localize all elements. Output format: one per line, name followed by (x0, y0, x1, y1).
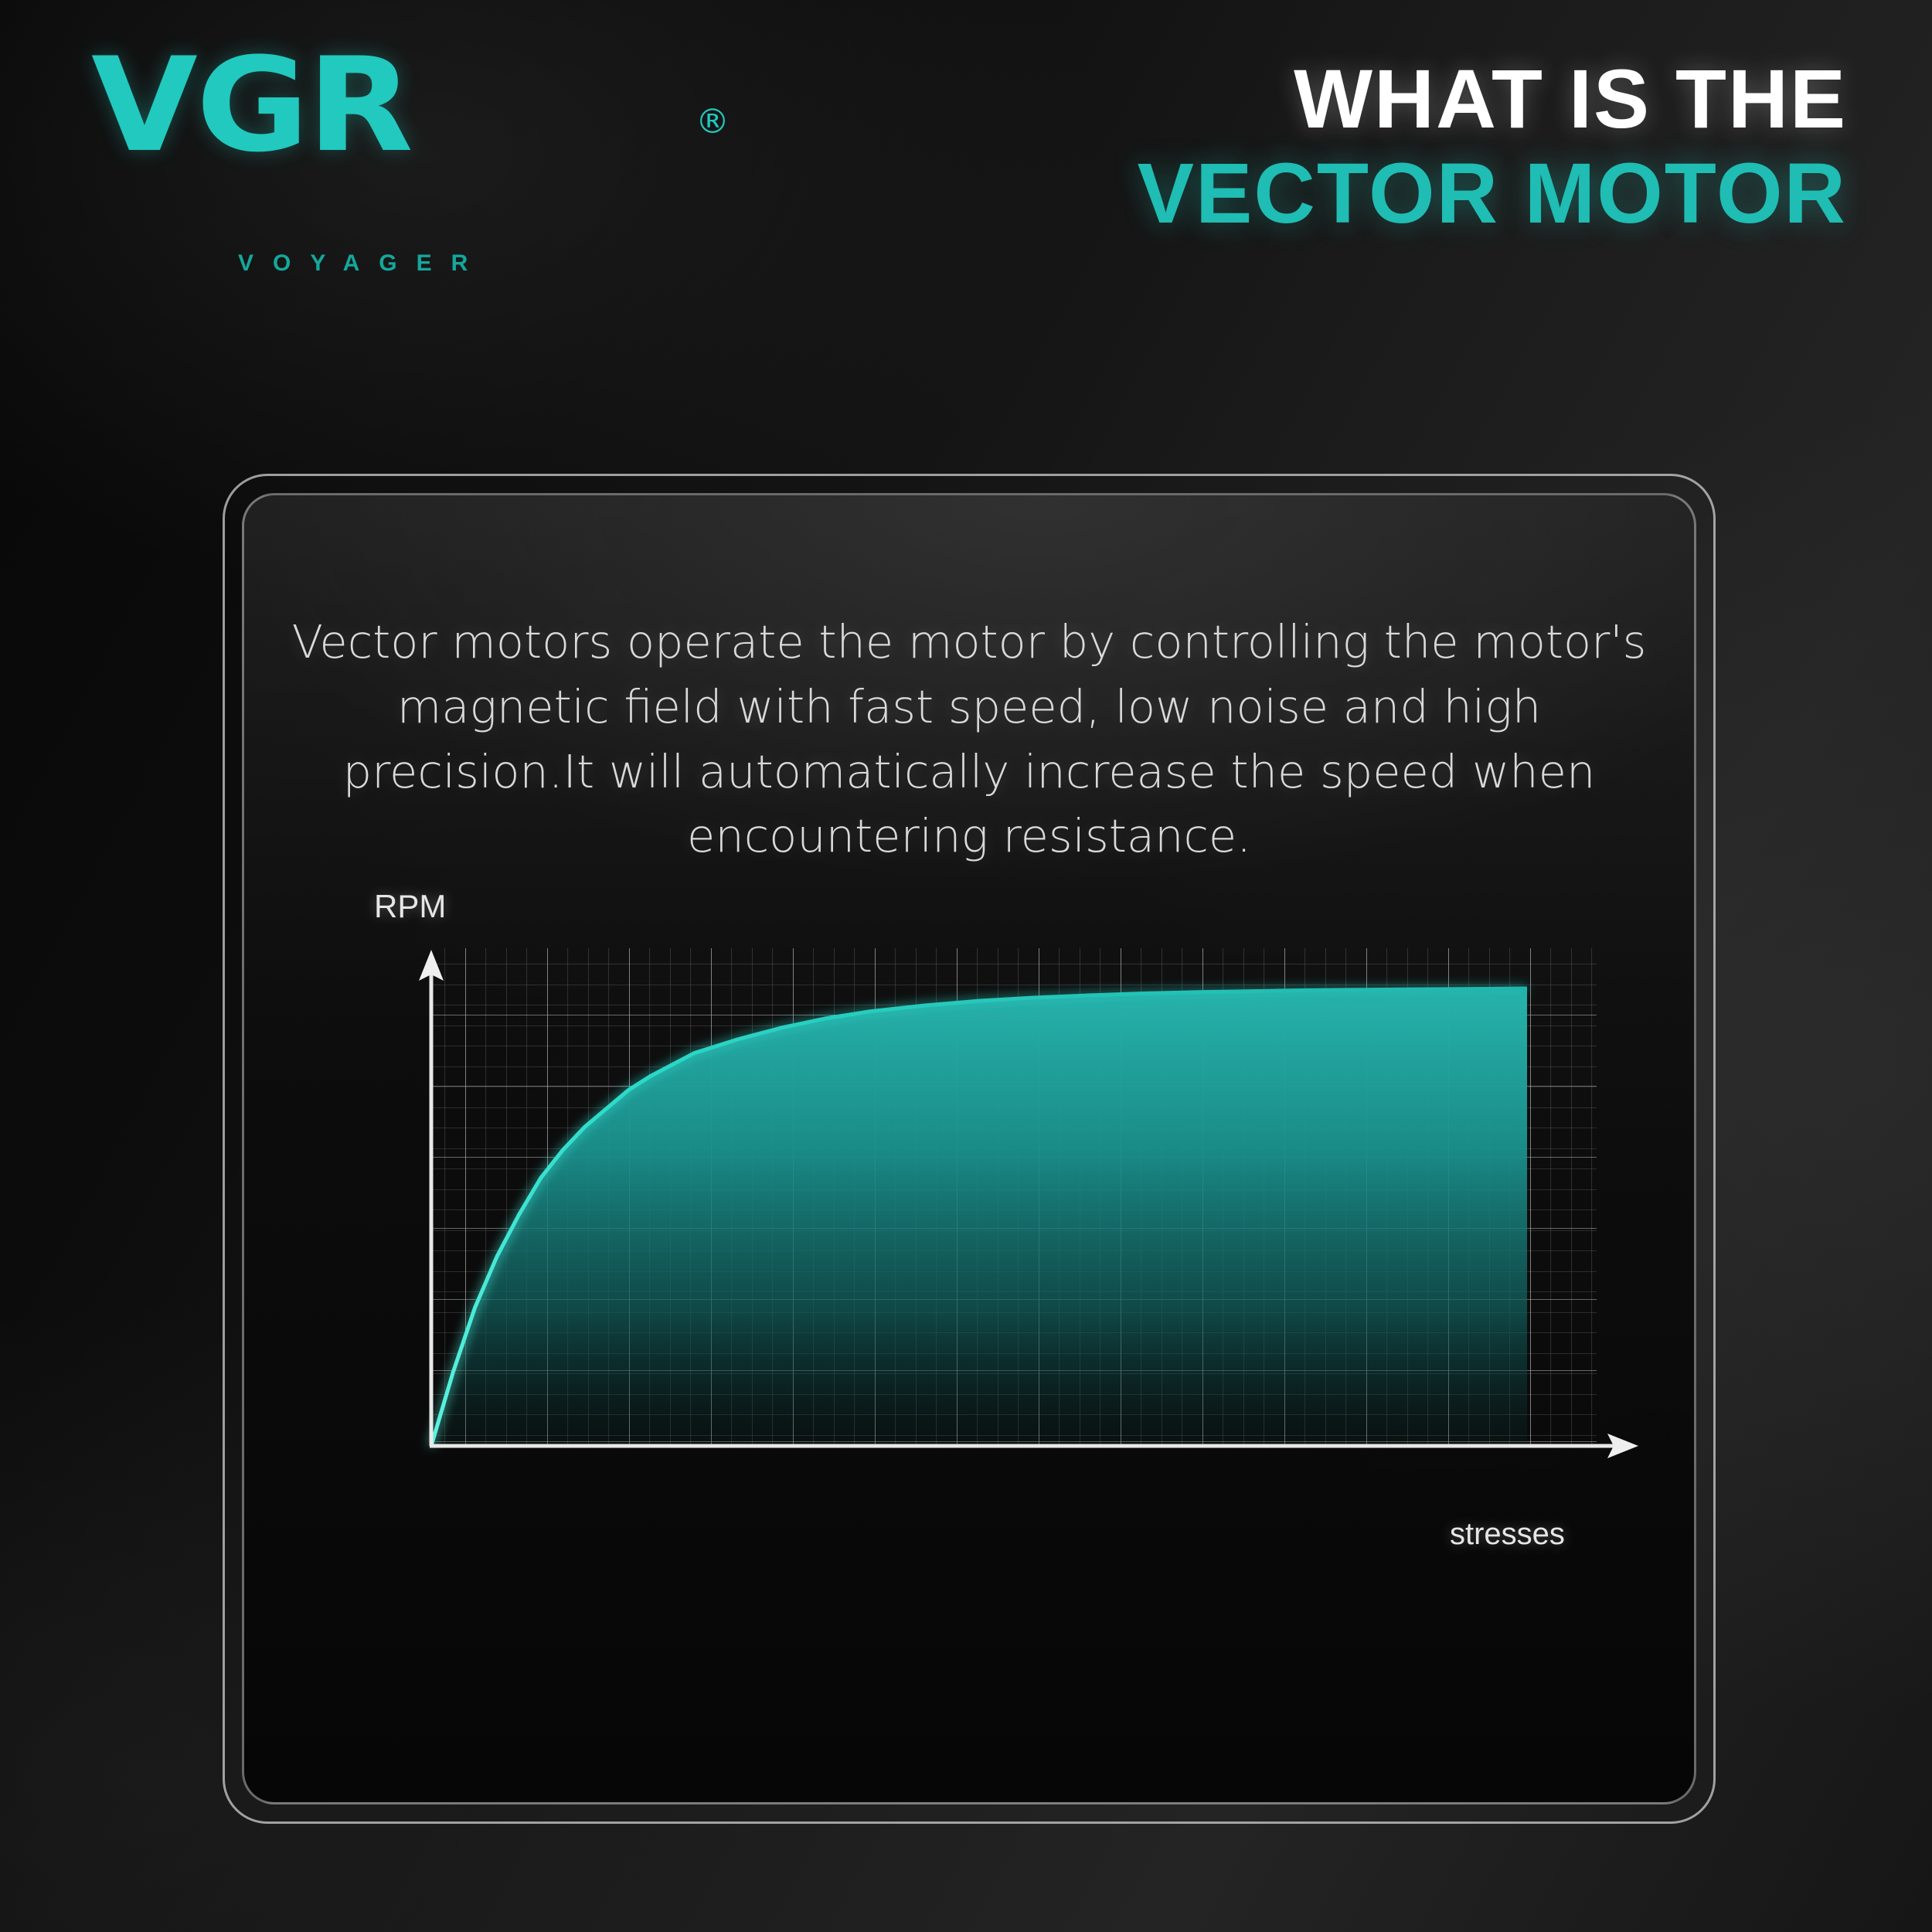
logo-wordmark: VGR (91, 40, 412, 170)
page-title: WHAT IS THE VECTOR MOTOR (1138, 56, 1847, 240)
registered-trademark-icon: ® (696, 102, 730, 141)
brand-logo: VGR ® VOYAGER (91, 40, 632, 170)
x-axis-label: stresses (1450, 1517, 1565, 1552)
title-secondary: VECTOR MOTOR (1138, 147, 1847, 240)
title-primary: WHAT IS THE (1138, 56, 1847, 142)
content-panel-outer-border: Vector motors operate the motor by contr… (223, 474, 1716, 1824)
chart-svg (383, 944, 1658, 1485)
y-axis-label: RPM (374, 888, 446, 925)
content-panel: Vector motors operate the motor by contr… (242, 493, 1696, 1804)
description-paragraph: Vector motors operate the motor by contr… (291, 610, 1648, 869)
logo-tagline: VOYAGER (238, 250, 487, 277)
poster-canvas: VGR ® VOYAGER WHAT IS THE VECTOR MOTOR V… (0, 0, 1932, 1932)
rpm-stresses-chart (383, 944, 1658, 1485)
